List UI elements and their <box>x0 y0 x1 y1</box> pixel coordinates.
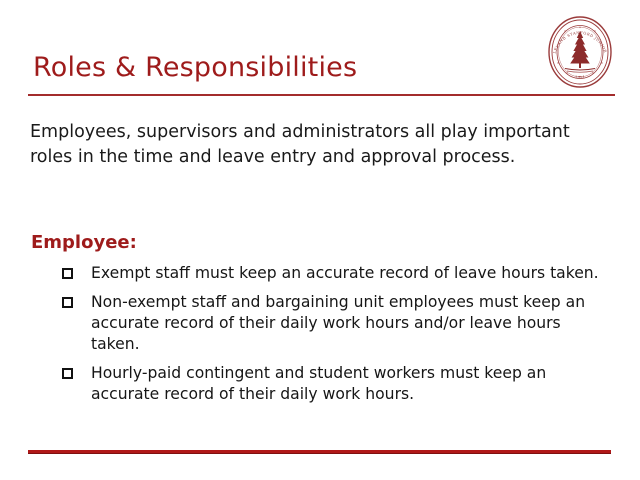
square-bullet-icon <box>62 263 91 279</box>
list-item-text: Exempt staff must keep an accurate recor… <box>91 263 607 284</box>
employee-responsibilities-list: Exempt staff must keep an accurate recor… <box>62 263 607 413</box>
seal-icon: LELAND STANFORD JUNIOR UNIVERSITY <box>543 15 617 89</box>
list-item: Non-exempt staff and bargaining unit emp… <box>62 292 607 355</box>
list-item-text: Hourly-paid contingent and student worke… <box>91 363 607 405</box>
seal-year: 1891 <box>575 75 585 80</box>
slide: LELAND STANFORD JUNIOR UNIVERSITY <box>0 0 640 480</box>
list-item-text: Non-exempt staff and bargaining unit emp… <box>91 292 607 355</box>
intro-paragraph: Employees, supervisors and administrator… <box>30 120 595 170</box>
square-bullet-icon <box>62 363 91 379</box>
page-title: Roles & Responsibilities <box>33 52 357 83</box>
title-divider <box>28 94 615 96</box>
stanford-seal-logo: LELAND STANFORD JUNIOR UNIVERSITY <box>543 15 617 89</box>
list-item: Exempt staff must keep an accurate recor… <box>62 263 607 284</box>
footer-divider <box>28 450 611 454</box>
square-bullet-icon <box>62 292 91 308</box>
section-heading-employee: Employee: <box>31 232 137 253</box>
list-item: Hourly-paid contingent and student worke… <box>62 363 607 405</box>
